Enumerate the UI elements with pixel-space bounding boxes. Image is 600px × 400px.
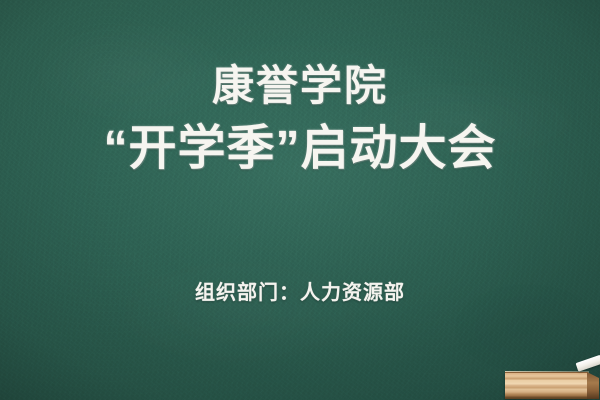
slide-subtitle: 组织部门：人力资源部 <box>0 276 600 305</box>
presentation-slide: 康誉学院 “开学季”启动大会 组织部门：人力资源部 <box>0 0 600 400</box>
slide-title: 康誉学院 “开学季”启动大会 <box>0 62 600 176</box>
slide-content: 康誉学院 “开学季”启动大会 组织部门：人力资源部 <box>0 0 600 400</box>
title-line-1: 康誉学院 <box>0 62 600 111</box>
title-line-2: “开学季”启动大会 <box>0 121 600 177</box>
wooden-chalk-ledge <box>505 372 588 399</box>
